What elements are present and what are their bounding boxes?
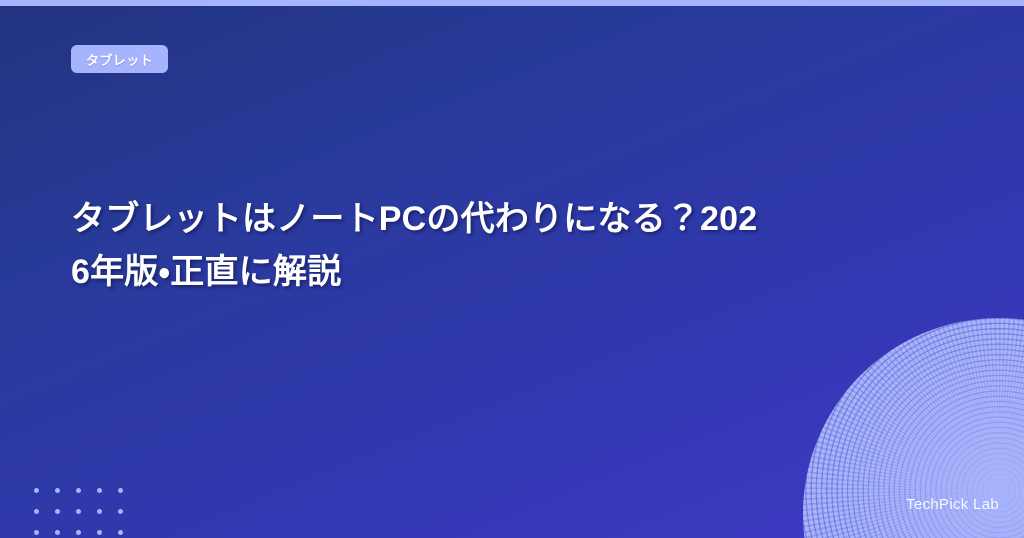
grid-dot: [97, 530, 102, 535]
grid-dot: [118, 509, 123, 514]
page-title: タブレットはノートPCの代わりになる？2026年版・正直に解説: [71, 193, 761, 299]
dot-grid-decoration: [34, 488, 139, 538]
grid-dot: [34, 509, 39, 514]
grid-dot: [76, 509, 81, 514]
grid-dot: [118, 530, 123, 535]
grid-dot: [34, 530, 39, 535]
grid-dot: [34, 488, 39, 493]
grid-dot: [55, 509, 60, 514]
brand-wordmark: TechPick Lab: [906, 496, 999, 513]
top-accent-strip: [0, 0, 1024, 6]
grid-dot: [118, 488, 123, 493]
category-badge[interactable]: タブレット: [71, 45, 168, 73]
grid-dot: [55, 488, 60, 493]
grid-dot: [55, 530, 60, 535]
grid-dot: [97, 509, 102, 514]
grid-dot: [76, 530, 81, 535]
ogp-card: タブレット タブレットはノートPCの代わりになる？2026年版・正直に解説 Te…: [0, 0, 1024, 538]
grid-dot: [76, 488, 81, 493]
grid-dot: [97, 488, 102, 493]
